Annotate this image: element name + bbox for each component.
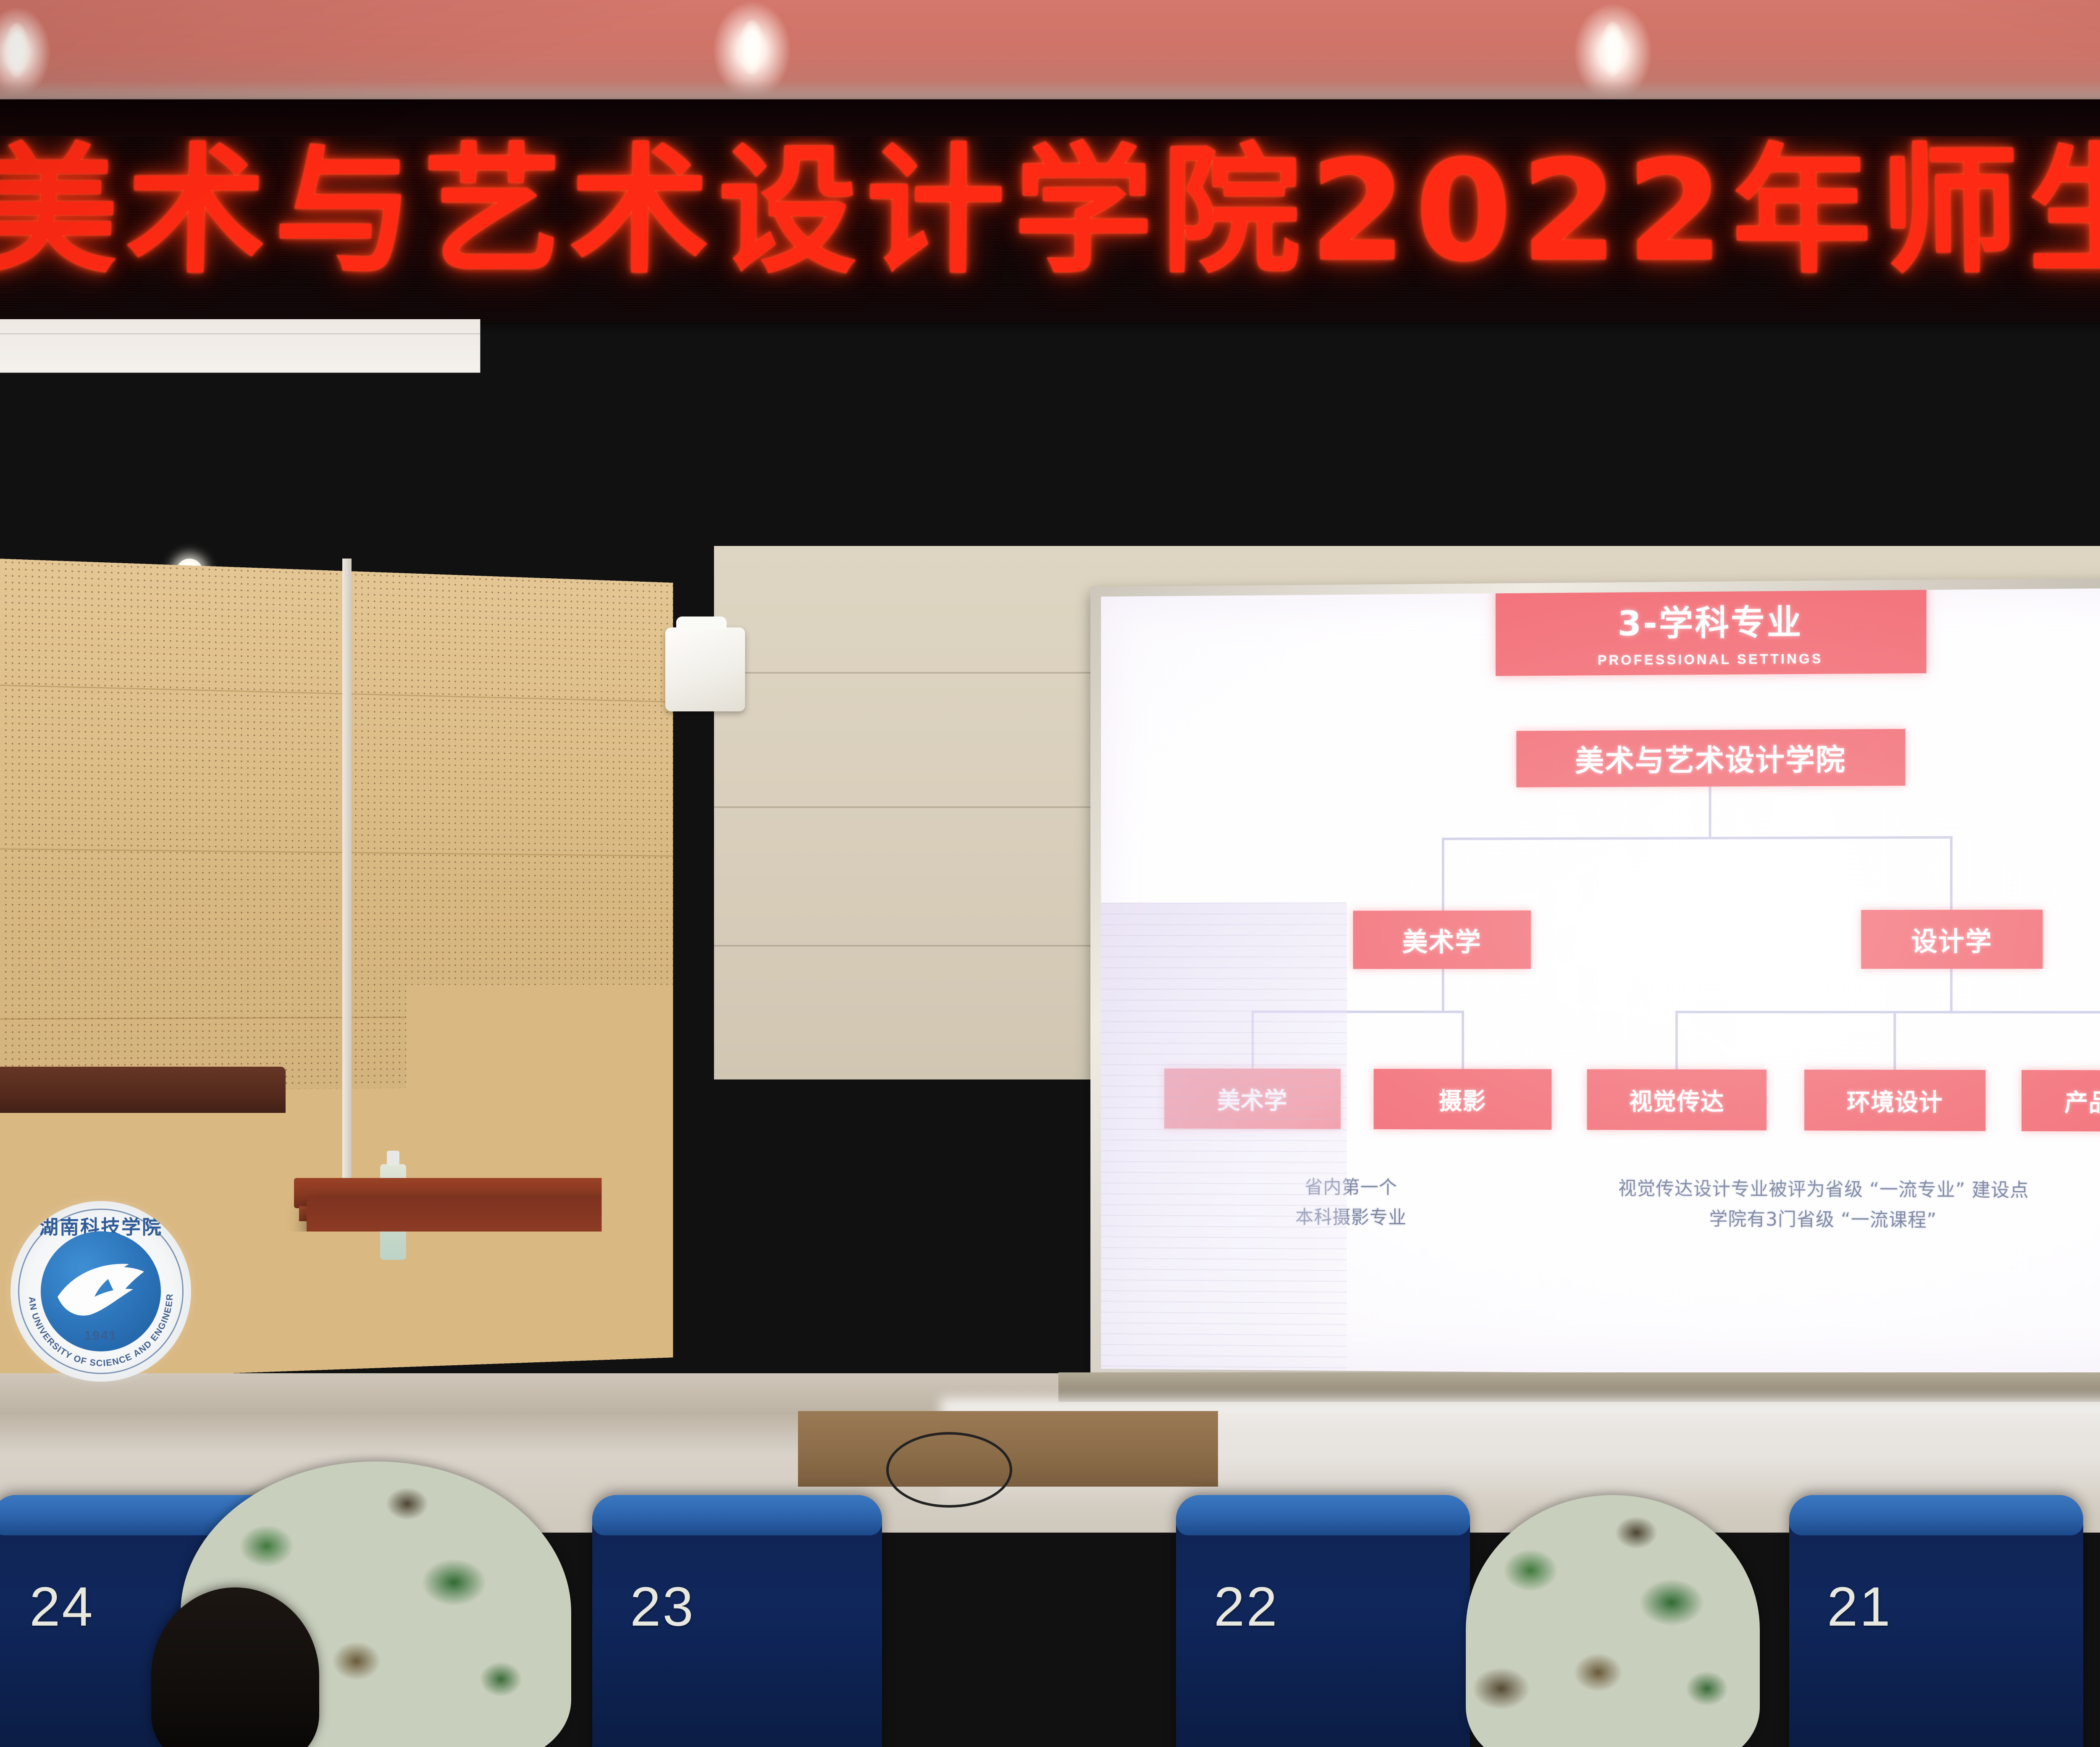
panel-seam [0,1015,673,1020]
org-connector [1950,836,1953,910]
org-connector [1893,1011,1896,1070]
seat-rim [1789,1495,2083,1535]
seat-number-label: 22 [1214,1575,1279,1638]
projection-screen: 3-学科专业 PROFESSIONAL SETTINGS 美术与艺术设计学院 美… [1101,585,2100,1380]
podium-side-trim [890,1193,937,1461]
org-node-level3-3: 环境设计 [1804,1070,1985,1131]
upper-wall [0,0,2100,110]
podium-zigzag-inlay [378,1302,832,1382]
seat-number-label: 24 [29,1575,94,1638]
ceiling-recess-panel [412,381,1411,532]
led-bezel [0,100,2100,136]
caption-left-line1: 省内第一个 [1295,1173,1407,1203]
caption-right-line2: 学院有3门省级 “一流课程” [1618,1204,2029,1236]
org-connector [1252,1010,1254,1068]
org-node-level2-0: 美术学 [1353,910,1531,969]
air-vent-icon [964,433,1061,490]
audience-water-bottle [1926,1642,1975,1747]
bottle-cap [387,1151,399,1165]
ceiling-spotlight-icon [1601,22,1625,76]
ceiling-downlight-icon [673,534,699,559]
university-logo: 湖南科技学院 HUNAN UNIVERSITY OF SCIENCE AND E… [10,1201,191,1382]
slide-title-banner: 3-学科专业 PROFESSIONAL SETTINGS [1496,586,1927,676]
panel-seam [0,848,673,857]
caption-left-line2: 本科摄影专业 [1295,1202,1407,1233]
slide-caption-left: 省内第一个 本科摄影专业 [1295,1173,1407,1233]
stage-skirting [1058,1372,2100,1402]
org-connector [1709,787,1711,837]
logo-year: 1941 [10,1329,191,1343]
caption-right-line1: 视觉传达设计专业被评为省级 “一流专业” 建设点 [1618,1174,2029,1206]
audience-seat-23[interactable]: 23 [592,1495,882,1747]
org-node-level3-0: 美术学 [1164,1068,1341,1129]
org-connector [1442,838,1444,911]
org-connector [1462,1011,1464,1069]
ceiling-seam [0,333,2100,334]
svg-text:HUNAN UNIVERSITY OF SCIENCE AN: HUNAN UNIVERSITY OF SCIENCE AND ENGINEER… [10,1201,175,1368]
led-scrolling-banner: 美术与艺术设计学院2022年师生 [0,100,2100,322]
seat-number-label: 21 [1827,1575,1892,1638]
org-connector [1252,1010,1462,1013]
slide-title-en: PROFESSIONAL SETTINGS [1598,651,1823,668]
audience-seat-22[interactable]: 22 [1176,1495,1470,1747]
seat-rim [1176,1495,1470,1535]
org-node-level2-1: 设计学 [1861,910,2042,969]
led-banner-text: 美术与艺术设计学院2022年师生 [0,121,2100,302]
ceiling-spotlight-icon [740,20,764,75]
org-node-level3-2: 视觉传达 [1587,1069,1767,1131]
lecture-hall-photo: 美术与艺术设计学院2022年师生 [0,0,2100,1747]
wifi-access-point-icon [665,627,745,711]
side-door[interactable] [0,811,92,1067]
org-connector [1442,969,1444,1010]
org-connector [1675,1011,1678,1070]
seat-number-label: 23 [630,1575,695,1638]
screen-glare [1101,902,1347,1380]
projection-screen-frame: 3-学科专业 PROFESSIONAL SETTINGS 美术与艺术设计学院 美… [1090,574,2100,1393]
air-vent-icon [1646,425,1740,461]
org-node-root: 美术与艺术设计学院 [1516,729,1905,787]
eyeglasses-icon [557,1114,622,1131]
logo-english-arc: HUNAN UNIVERSITY OF SCIENCE AND ENGINEER… [10,1201,191,1382]
eyeglass-bridge [583,1120,596,1123]
ceiling-recess-panel [1462,377,2100,524]
seat-rim [592,1495,882,1535]
org-connector [1442,836,1953,840]
eyeglass-lens-right [596,1114,622,1131]
slide-title-cn: 3-学科专业 [1617,594,1803,645]
eyeglass-lens-left [557,1114,583,1131]
ceiling-spotlight-icon [5,23,29,78]
panel-seam [0,685,673,703]
org-node-level3-1: 摄影 [1374,1069,1552,1130]
org-node-level3-4: 产品设计 [2021,1070,2100,1132]
microphone-status-led [588,1146,594,1152]
slide-caption-right: 视觉传达设计专业被评为省级 “一流专业” 建设点 学院有3门省级 “一流课程” [1618,1174,2029,1236]
org-connector [1675,1011,2100,1014]
ceiling [0,319,2100,580]
org-connector [1950,969,1953,1011]
